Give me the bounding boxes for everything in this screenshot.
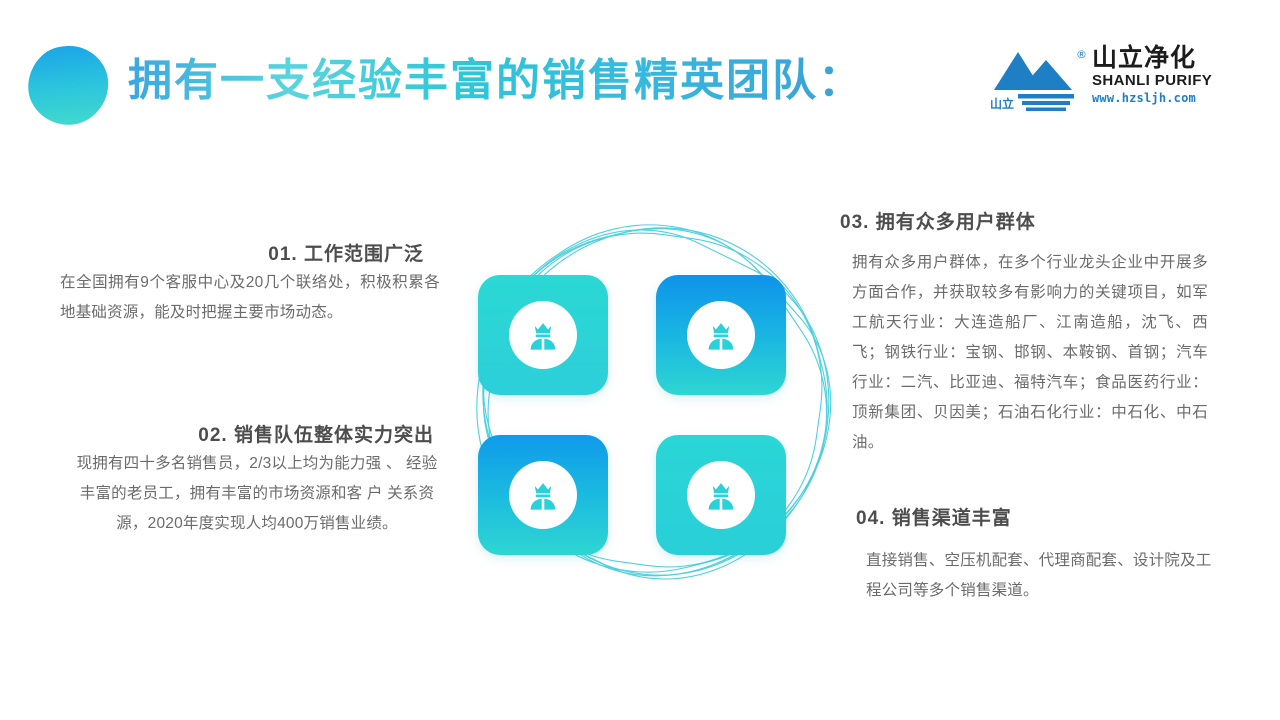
logo-text-group: 山立净化 SHANLI PURIFY www.hzsljh.com: [1092, 44, 1222, 106]
crowned-person-icon: [687, 301, 755, 369]
svg-text:山立: 山立: [990, 96, 1014, 111]
feature-block-02-heading: 02. 销售队伍整体实力突出: [60, 423, 440, 449]
crowned-person-icon: [509, 301, 577, 369]
feature-block-02-body: 现拥有四十多名销售员，2/3以上均为能力强 、 经验丰富的老员工，拥有丰富的市场…: [60, 449, 440, 539]
feature-block-04-heading: 04. 销售渠道丰富: [856, 506, 1216, 532]
feature-tile-1[interactable]: [478, 275, 608, 395]
feature-tile-4[interactable]: [656, 435, 786, 555]
logo-name-cn: 山立净化: [1092, 44, 1222, 72]
feature-tile-3[interactable]: [478, 435, 608, 555]
company-logo: ® 山立 山立净化 SHANLI PURIFY www.hzsljh.com: [988, 44, 1218, 116]
feature-block-01-heading: 01. 工作范围广泛: [60, 242, 440, 268]
feature-block-01-body: 在全国拥有9个客服中心及20几个联络处，积极积累各地基础资源，能及时把握主要市场…: [60, 268, 440, 328]
feature-block-01: 01. 工作范围广泛 在全国拥有9个客服中心及20几个联络处，积极积累各地基础资…: [60, 242, 440, 328]
mountain-peaks-logo-icon: ® 山立: [988, 46, 1088, 114]
organic-blob-decoration: [26, 44, 110, 126]
feature-tile-2[interactable]: [656, 275, 786, 395]
logo-website: www.hzsljh.com: [1092, 90, 1222, 106]
svg-text:®: ®: [1076, 48, 1087, 61]
crowned-person-icon: [509, 461, 577, 529]
feature-block-02: 02. 销售队伍整体实力突出 现拥有四十多名销售员，2/3以上均为能力强 、 经…: [60, 423, 440, 539]
logo-name-en: SHANLI PURIFY: [1092, 72, 1222, 90]
crowned-person-icon: [687, 461, 755, 529]
feature-block-03: 03. 拥有众多用户群体 拥有众多用户群体，在多个行业龙头企业中开展多方面合作，…: [840, 210, 1208, 458]
page-header: 拥有一支经验丰富的销售精英团队： ® 山立 山立净化 SHANLI PURIFY…: [0, 0, 1280, 140]
feature-block-04: 04. 销售渠道丰富 直接销售、空压机配套、代理商配套、设计院及工程公司等多个销…: [856, 506, 1216, 606]
center-graphic: [430, 165, 900, 655]
page-title: 拥有一支经验丰富的销售精英团队：: [128, 52, 864, 110]
feature-tile-grid: [478, 275, 818, 565]
feature-block-04-body: 直接销售、空压机配套、代理商配套、设计院及工程公司等多个销售渠道。: [856, 546, 1216, 606]
feature-block-03-body: 拥有众多用户群体，在多个行业龙头企业中开展多方面合作，并获取较多有影响力的关键项…: [840, 248, 1208, 458]
feature-block-03-heading: 03. 拥有众多用户群体: [840, 210, 1208, 236]
